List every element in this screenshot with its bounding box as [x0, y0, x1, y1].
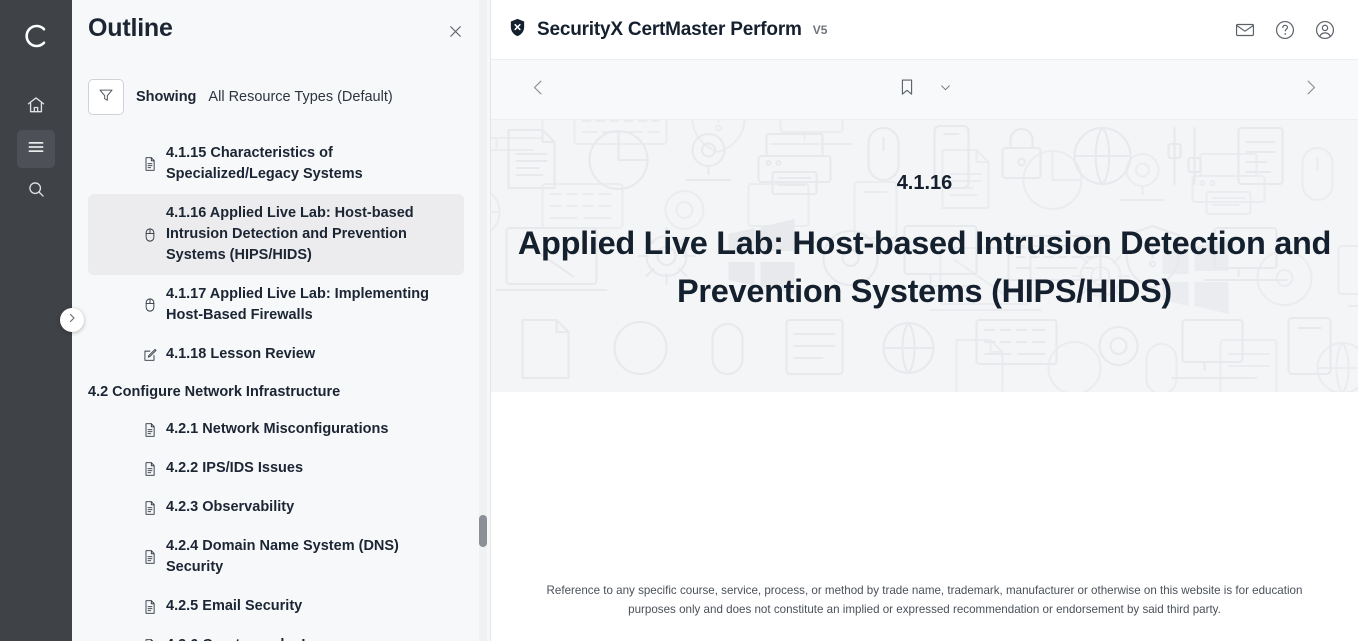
outline-item[interactable]: 4.2.6 Cryptography Issues	[88, 626, 464, 641]
chevron-right-icon	[66, 311, 78, 329]
chevron-left-icon	[529, 78, 548, 102]
outline-item[interactable]: 4.2.4 Domain Name System (DNS) Security	[88, 527, 464, 587]
prev-page-button[interactable]	[529, 78, 548, 102]
filter-showing-label: Showing	[136, 89, 196, 105]
close-icon[interactable]	[442, 18, 468, 44]
review-icon	[142, 347, 158, 363]
bookmark-button[interactable]	[897, 77, 917, 102]
rail-item-home[interactable]	[17, 88, 55, 126]
panel-collapse-handle[interactable]	[60, 308, 84, 332]
filter-button[interactable]	[88, 79, 124, 115]
outline-item-label: 4.2.1 Network Misconfigurations	[144, 419, 388, 440]
content-toolbar	[491, 60, 1358, 120]
rail-item-search[interactable]	[17, 172, 55, 210]
outline-section-header[interactable]: 4.2 Configure Network Infrastructure	[88, 374, 464, 410]
outline-item-label: 4.2.6 Cryptography Issues	[144, 635, 347, 641]
help-icon[interactable]	[1274, 19, 1296, 41]
outline-panel: Outline Showing All Resource Types (Defa…	[72, 0, 491, 641]
outline-item[interactable]: 4.1.15 Characteristics of Specialized/Le…	[88, 134, 464, 194]
filter-row: Showing All Resource Types (Default)	[72, 62, 490, 122]
outline-item[interactable]: 4.2.1 Network Misconfigurations	[88, 410, 464, 449]
document-icon	[142, 549, 158, 565]
lab-icon	[142, 227, 158, 243]
outline-item[interactable]: 4.1.18 Lesson Review	[88, 335, 464, 374]
outline-item-label: 4.1.18 Lesson Review	[144, 344, 315, 365]
rail-item-outline[interactable]	[17, 130, 55, 168]
lab-icon	[142, 297, 158, 313]
mail-icon[interactable]	[1234, 19, 1256, 41]
outline-scrollbar-thumb[interactable]	[479, 515, 487, 547]
outline-item-label: 4.2.5 Email Security	[144, 596, 302, 617]
chevron-down-icon	[939, 81, 952, 99]
filter-icon	[97, 86, 115, 109]
outline-header: Outline	[72, 0, 490, 62]
home-icon	[26, 95, 46, 120]
chevron-right-icon	[1301, 78, 1320, 102]
app-root: Outline Showing All Resource Types (Defa…	[0, 0, 1358, 641]
lesson-body: Reference to any specific course, servic…	[491, 392, 1358, 641]
document-icon	[142, 422, 158, 438]
outline-item-label: 4.2.2 IPS/IDS Issues	[144, 458, 303, 479]
next-page-button[interactable]	[1301, 78, 1320, 102]
outline-item[interactable]: 4.2.3 Observability	[88, 488, 464, 527]
outline-item-label: 4.2.3 Observability	[144, 497, 294, 518]
outline-item-label: 4.2.4 Domain Name System (DNS) Security	[144, 536, 454, 578]
outline-item-label: 4.1.15 Characteristics of Specialized/Le…	[144, 143, 454, 185]
document-icon	[142, 156, 158, 172]
outline-icon	[26, 137, 46, 162]
search-icon	[26, 179, 46, 204]
lesson-number: 4.1.16	[897, 172, 953, 195]
lesson-title: Applied Live Lab: Host-based Intrusion D…	[491, 219, 1358, 315]
outline-item-label: 4.1.17 Applied Live Lab: Implementing Ho…	[144, 284, 454, 326]
main-area: SecurityX CertMaster Perform V5	[491, 0, 1358, 641]
brand: SecurityX CertMaster Perform V5	[507, 17, 827, 43]
toolbar-center	[491, 77, 1358, 102]
outline-item[interactable]: 4.2.5 Email Security	[88, 587, 464, 626]
shield-icon	[507, 17, 528, 43]
document-icon	[142, 461, 158, 477]
document-icon	[142, 500, 158, 516]
brand-title: SecurityX CertMaster Perform	[537, 19, 802, 41]
page-title: Outline	[88, 14, 173, 43]
outline-item-label: 4.1.16 Applied Live Lab: Host-based Intr…	[144, 203, 454, 266]
bookmark-icon	[897, 77, 917, 102]
header-actions	[1234, 19, 1336, 41]
filter-selected-value[interactable]: All Resource Types (Default)	[208, 89, 392, 105]
lesson-hero: 4.1.16 Applied Live Lab: Host-based Intr…	[491, 120, 1358, 392]
outline-item-selected[interactable]: 4.1.16 Applied Live Lab: Host-based Intr…	[88, 194, 464, 275]
bookmark-menu-button[interactable]	[939, 81, 952, 99]
outline-list: 4.1.15 Characteristics of Specialized/Le…	[72, 122, 490, 641]
comptia-logo-icon[interactable]	[16, 16, 56, 56]
outline-item[interactable]: 4.2.2 IPS/IDS Issues	[88, 449, 464, 488]
brand-version: V5	[813, 23, 828, 37]
account-icon[interactable]	[1314, 19, 1336, 41]
app-rail	[0, 0, 72, 641]
document-icon	[142, 599, 158, 615]
rail-nav	[17, 88, 55, 210]
disclaimer-text: Reference to any specific course, servic…	[491, 581, 1358, 619]
app-header: SecurityX CertMaster Perform V5	[491, 0, 1358, 60]
outline-item[interactable]: 4.1.17 Applied Live Lab: Implementing Ho…	[88, 275, 464, 335]
